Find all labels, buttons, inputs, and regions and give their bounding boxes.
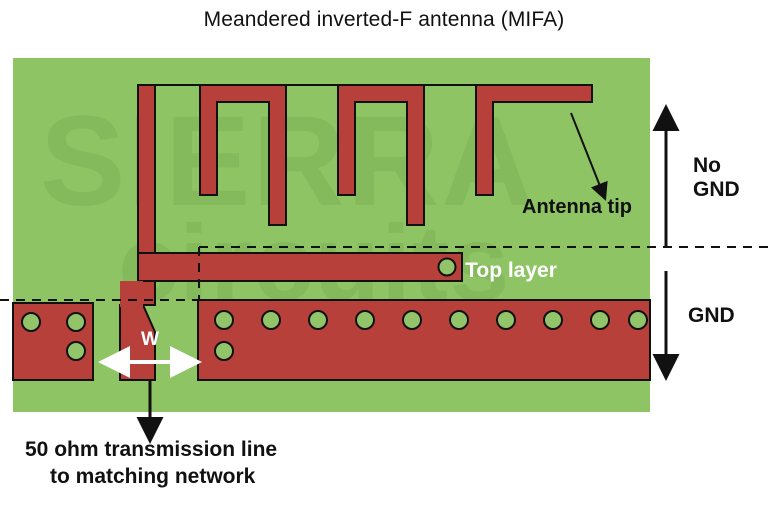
mifa-antenna-diagram: SIERRA circuits xyxy=(0,0,768,514)
via-hole-left-pad-1 xyxy=(22,313,40,331)
via-hole-gnd-9 xyxy=(591,311,609,329)
via-hole-gnd-2 xyxy=(262,311,280,329)
via-hole-left-pad-3 xyxy=(67,342,85,360)
via-hole-stub xyxy=(439,259,456,276)
feed-line-neck xyxy=(120,281,143,307)
no-gnd-label-line-1: No xyxy=(693,154,721,177)
antenna-shorting-stub xyxy=(138,253,462,281)
antenna-tip-label: Antenna tip xyxy=(522,196,632,218)
via-hole-gnd-7 xyxy=(497,311,515,329)
figure-root: Meandered inverted-F antenna (MIFA) SIER… xyxy=(0,0,768,514)
via-hole-left-pad-2 xyxy=(67,313,85,331)
gnd-label: GND xyxy=(688,304,735,327)
via-hole-gnd-4 xyxy=(356,311,374,329)
via-hole-gnd-lower-1 xyxy=(215,342,233,360)
via-hole-gnd-1 xyxy=(215,311,233,329)
via-hole-gnd-8 xyxy=(544,311,562,329)
caption-line-1: 50 ohm transmission line xyxy=(25,438,277,461)
caption-line-2: to matching network xyxy=(50,465,256,488)
via-hole-gnd-3 xyxy=(309,311,327,329)
via-hole-gnd-6 xyxy=(450,311,468,329)
no-gnd-label-line-2: GND xyxy=(693,178,740,201)
via-hole-gnd-10 xyxy=(629,311,647,329)
via-hole-gnd-5 xyxy=(403,311,421,329)
top-layer-label: Top layer xyxy=(465,259,557,282)
width-dimension-label: W xyxy=(141,329,159,350)
